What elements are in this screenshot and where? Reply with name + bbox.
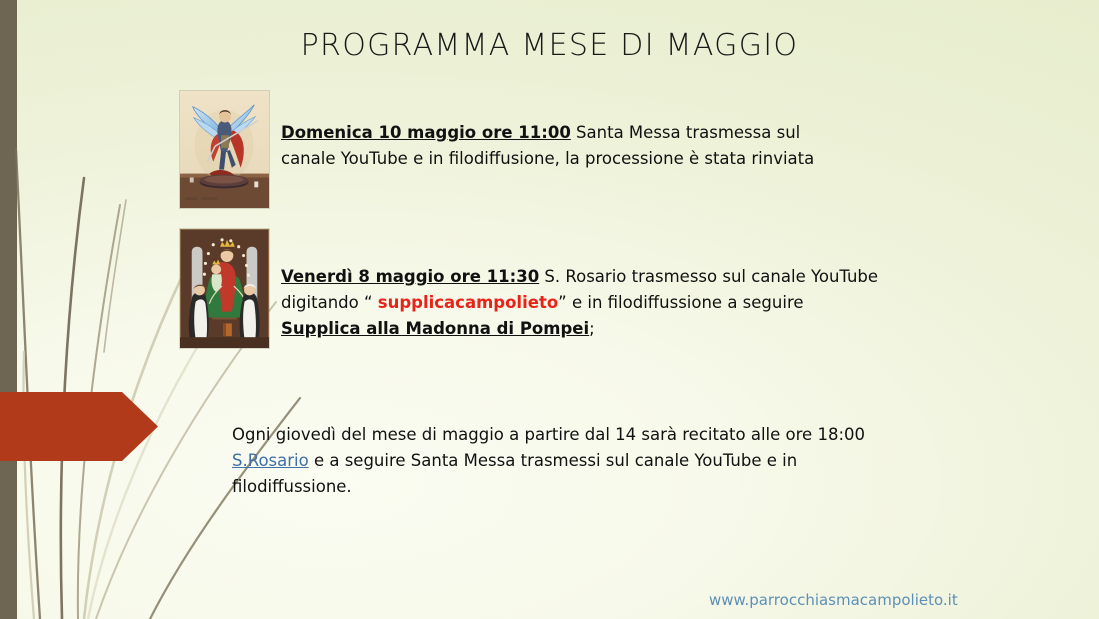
venerdi-heading: Venerdì 8 maggio ore 11:30 xyxy=(281,267,539,286)
giovedi-part2: e a seguire Santa Messa trasmessi sul ca… xyxy=(232,451,797,496)
paragraph-venerdi: Venerdì 8 maggio ore 11:30 S. Rosario tr… xyxy=(281,264,886,342)
venerdi-part2: ” e in filodiffussione a seguire xyxy=(558,293,803,312)
left-edge-stripe xyxy=(0,0,17,619)
page-title: PROGRAMMA MESE DI MAGGIO xyxy=(0,28,1099,63)
supplicacampolieto-keyword: supplicacampolieto xyxy=(378,293,558,312)
madonna-di-pompei-image xyxy=(179,228,270,349)
red-arrow-banner xyxy=(0,392,158,461)
presentation-slide: PROGRAMMA MESE DI MAGGIO xyxy=(0,0,1099,619)
paragraph-giovedi: Ogni giovedì del mese di maggio a partir… xyxy=(232,422,892,500)
s-rosario-link[interactable]: S.Rosario xyxy=(232,451,309,470)
domenica-heading: Domenica 10 maggio ore 11:00 xyxy=(281,123,571,142)
supplica-madonna-pompei-emphasis: Supplica alla Madonna di Pompei xyxy=(281,319,589,338)
paragraph-domenica: Domenica 10 maggio ore 11:00 Santa Messa… xyxy=(281,120,856,172)
venerdi-part3: ; xyxy=(589,319,595,338)
san-michele-arcangelo-image xyxy=(179,90,270,209)
footer-website-url[interactable]: www.parrocchiasmacampolieto.it xyxy=(709,591,958,609)
giovedi-part1: Ogni giovedì del mese di maggio a partir… xyxy=(232,425,865,444)
